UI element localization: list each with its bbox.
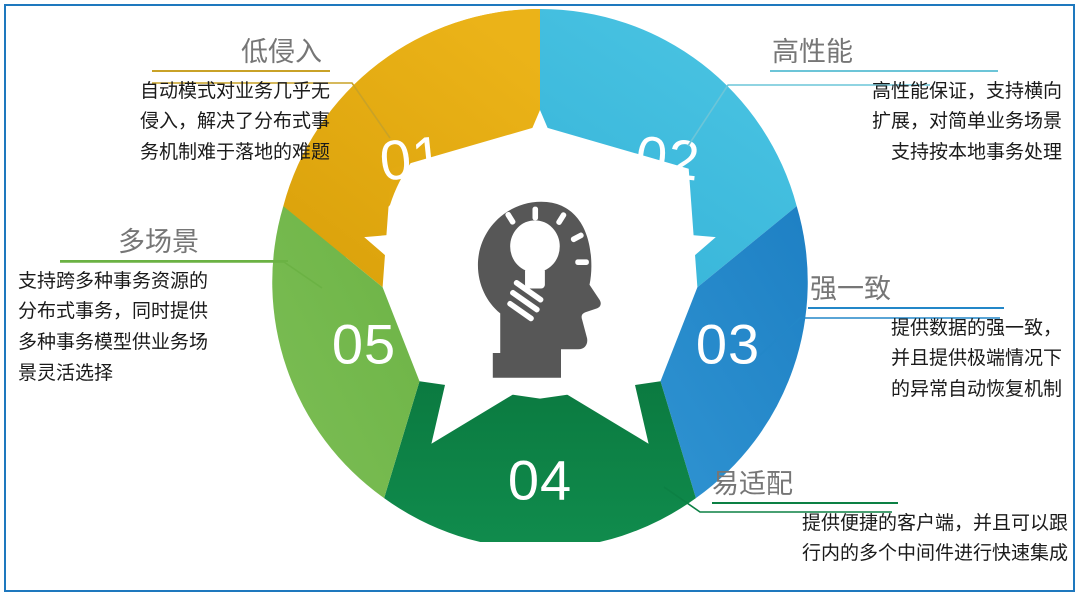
callout-line: 扩展，对简单业务场景 (762, 107, 1062, 138)
callout-multi-scenario: 多场景 支持跨多种事务资源的 分布式事务，同时提供 多种事务模型供业务场 景灵活… (18, 228, 288, 390)
petal-label-04: 04 (508, 449, 572, 512)
callout-line: 行内的多个中间件进行快速集成 (690, 539, 1068, 570)
callout-line: 景灵活选择 (18, 359, 288, 390)
slide-canvas: 01 02 03 04 05 (0, 0, 1080, 597)
callout-line: 支持按本地事务处理 (762, 138, 1062, 169)
callout-rule-05 (60, 260, 288, 262)
petal-label-05: 05 (332, 313, 396, 376)
callout-rule-04 (712, 502, 898, 504)
callout-body-03: 提供数据的强一致， 并且提供极端情况下 的异常自动恢复机制 (800, 314, 1062, 406)
callout-rule-02 (770, 70, 998, 72)
petal-label-02: 02 (633, 123, 704, 192)
pinwheel-diagram: 01 02 03 04 05 (272, 6, 808, 542)
callout-line: 支持跨多种事务资源的 (18, 267, 288, 298)
petal-label-03: 03 (696, 313, 760, 376)
callout-body-05: 支持跨多种事务资源的 分布式事务，同时提供 多种事务模型供业务场 景灵活选择 (18, 267, 288, 390)
callout-rule-01 (152, 70, 330, 72)
callout-easy-adaptation: 易适配 提供便捷的客户端，并且可以跟 行内的多个中间件进行快速集成 (690, 470, 1068, 570)
petal-label-01: 01 (377, 123, 448, 192)
callout-strong-consistency: 强一致 提供数据的强一致， 并且提供极端情况下 的异常自动恢复机制 (800, 275, 1062, 406)
callout-body-04: 提供便捷的客户端，并且可以跟 行内的多个中间件进行快速集成 (690, 509, 1068, 571)
callout-line: 高性能保证，支持横向 (762, 77, 1062, 108)
callout-high-performance: 高性能 高性能保证，支持横向 扩展，对简单业务场景 支持按本地事务处理 (762, 38, 1062, 169)
callout-rule-03 (808, 307, 1004, 309)
callout-title-01: 低侵入 (40, 38, 330, 68)
callout-title-02: 高性能 (762, 38, 1062, 68)
callout-line: 的异常自动恢复机制 (800, 375, 1062, 406)
callout-line: 提供便捷的客户端，并且可以跟 (690, 509, 1068, 540)
callout-low-intrusion: 低侵入 自动模式对业务几乎无 侵入，解决了分布式事 务机制难于落地的难题 (40, 38, 330, 169)
callout-line: 并且提供极端情况下 (800, 344, 1062, 375)
callout-line: 自动模式对业务几乎无 (40, 77, 330, 108)
callout-body-01: 自动模式对业务几乎无 侵入，解决了分布式事 务机制难于落地的难题 (40, 77, 330, 169)
callout-title-05: 多场景 (18, 228, 288, 258)
callout-body-02: 高性能保证，支持横向 扩展，对简单业务场景 支持按本地事务处理 (762, 77, 1062, 169)
callout-line: 务机制难于落地的难题 (40, 138, 330, 169)
callout-title-04: 易适配 (690, 470, 1068, 500)
callout-title-03: 强一致 (800, 275, 1062, 305)
callout-line: 多种事务模型供业务场 (18, 328, 288, 359)
callout-line: 分布式事务，同时提供 (18, 297, 288, 328)
callout-line: 侵入，解决了分布式事 (40, 107, 330, 138)
callout-line: 提供数据的强一致， (800, 314, 1062, 345)
